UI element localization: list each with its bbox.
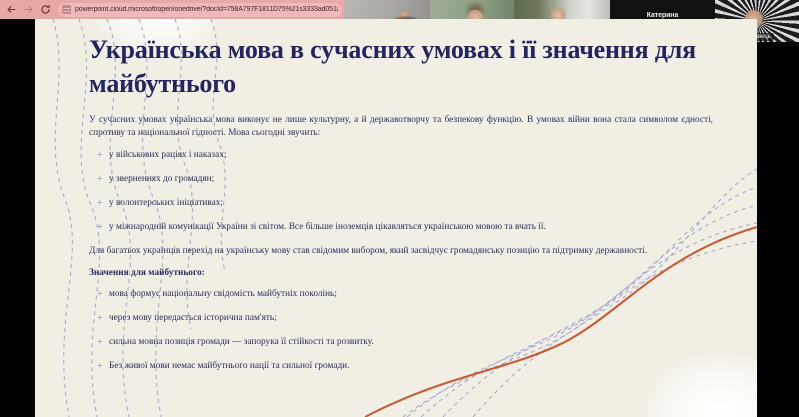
slide-title: Українська мова в сучасних умовах і її з…: [89, 33, 719, 102]
plus-bullet-icon: +: [97, 360, 109, 373]
slide-intro-paragraph: У сучасних умовах українська мова викону…: [89, 114, 713, 140]
bullet-text: мова формує національну свідомість майбу…: [109, 288, 713, 301]
plus-bullet-icon: +: [97, 197, 109, 210]
bullet-text: у військових раціях і наказах;: [109, 149, 713, 162]
bullet-text: у зверненнях до громадян;: [109, 173, 713, 186]
forward-arrow-icon[interactable]: [20, 1, 37, 18]
plus-bullet-icon: +: [97, 173, 109, 186]
bullet-text: Без живої мови немає майбутнього нації т…: [109, 360, 713, 373]
bullet-item: + мова формує національну свідомість май…: [97, 288, 713, 301]
bullet-item: + сильна мовна позиція громади — запорук…: [97, 336, 713, 349]
bullet-text: сильна мовна позиція громади — запорука …: [109, 336, 713, 349]
bullet-text: через мову передається історична пам'ять…: [109, 312, 713, 325]
plus-bullet-icon: +: [97, 149, 109, 162]
address-bar[interactable]: powerpoint.cloud.microsoft/open/onedrive…: [58, 3, 342, 17]
bullet-text: у міжнародній комунікації України зі сві…: [109, 221, 713, 234]
bullet-item: + у волонтерських ініціативах;: [97, 197, 713, 210]
shared-slide[interactable]: Українська мова в сучасних умовах і її з…: [35, 19, 757, 417]
plus-bullet-icon: +: [97, 221, 109, 234]
bullet-item: + через мову передається історична пам'я…: [97, 312, 713, 325]
site-info-icon[interactable]: [62, 5, 71, 14]
bullet-item: + Без живої мови немає майбутнього нації…: [97, 360, 713, 373]
slide-section-heading: Значення для майбутнього:: [89, 267, 713, 280]
slide-paragraph-2: Для багатьох українців перехід на україн…: [89, 245, 713, 258]
bullet-item: + у зверненнях до громадян;: [97, 173, 713, 186]
url-text: powerpoint.cloud.microsoft/open/onedrive…: [75, 6, 338, 13]
plus-bullet-icon: +: [97, 336, 109, 349]
plus-bullet-icon: +: [97, 312, 109, 325]
bullet-item: + у військових раціях і наказах;: [97, 149, 713, 162]
plus-bullet-icon: +: [97, 288, 109, 301]
browser-toolbar: powerpoint.cloud.microsoft/open/onedrive…: [0, 0, 344, 19]
reload-icon[interactable]: [37, 1, 54, 18]
bullet-text: у волонтерських ініціативах;: [109, 197, 713, 210]
back-arrow-icon[interactable]: [3, 1, 20, 18]
bullet-item: + у міжнародній комунікації України зі с…: [97, 221, 713, 234]
screen: powerpoint.cloud.microsoft/open/onedrive…: [0, 0, 799, 417]
slide-body: Українська мова в сучасних умовах і її з…: [35, 19, 757, 374]
